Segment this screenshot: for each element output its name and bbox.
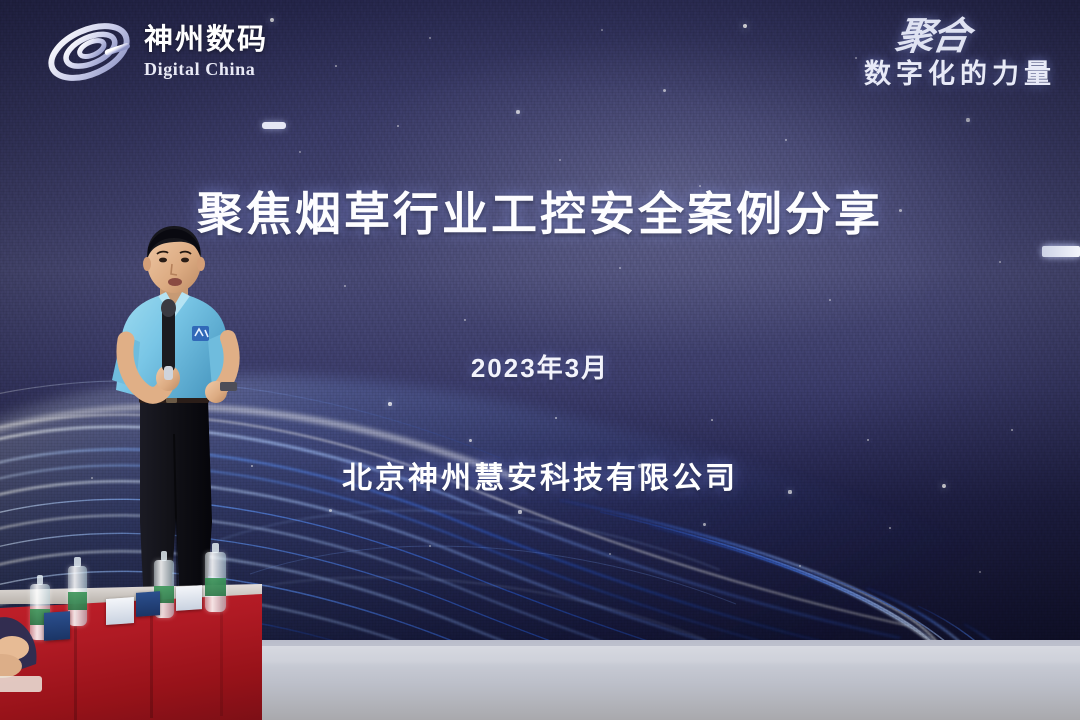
star-particle [663,89,666,92]
star-particle [979,571,981,573]
star-particle [270,18,274,22]
star-particle [388,402,392,406]
star-particle [518,510,521,513]
spiral-e-icon [44,16,134,88]
star-particle [829,299,832,302]
star-particle [785,139,788,142]
name-card [106,597,134,625]
shirt-emblem [192,326,209,341]
star-particle [429,545,432,548]
name-card [176,585,202,611]
seated-attendee [0,592,60,720]
star-particle [889,527,892,530]
star-particle [703,523,706,526]
event-brand-block: 聚合 数字化的力量 [864,18,1056,91]
conference-photo-stage: 神州数码 Digital China 聚合 数字化的力量 聚焦烟草行业工控安全案… [0,0,1080,720]
screen-edge-accent [1042,246,1080,257]
star-particle [329,509,332,512]
star-particle [299,151,301,153]
star-particle [335,65,338,68]
star-particle [555,417,558,420]
star-particle [429,37,431,39]
microphone-icon [161,299,176,380]
star-particle [867,439,870,442]
star-particle [469,439,472,442]
star-particle [1011,429,1014,432]
screen-accent-pill [262,122,286,129]
star-particle [609,553,611,555]
star-particle [601,29,603,31]
star-particle [855,57,857,59]
water-bottle [68,566,87,626]
name-card [136,591,160,617]
digital-china-logo: 神州数码 Digital China [44,16,268,88]
clicker-icon [220,382,237,391]
star-particle [344,285,346,287]
presenter-figure [96,222,266,622]
star-particle [966,118,969,121]
star-particle [711,419,714,422]
water-bottle [205,552,226,612]
star-particle [559,159,561,161]
star-particle [397,125,400,128]
star-particle [743,24,747,28]
logo-chinese-text: 神州数码 [144,26,268,55]
logo-english-text: Digital China [144,60,268,78]
star-particle [516,110,519,113]
brand-calligraphy: 聚合 [861,18,970,56]
star-particle [464,319,467,322]
star-particle [999,261,1001,263]
star-particle [619,267,621,269]
star-particle [799,565,802,568]
